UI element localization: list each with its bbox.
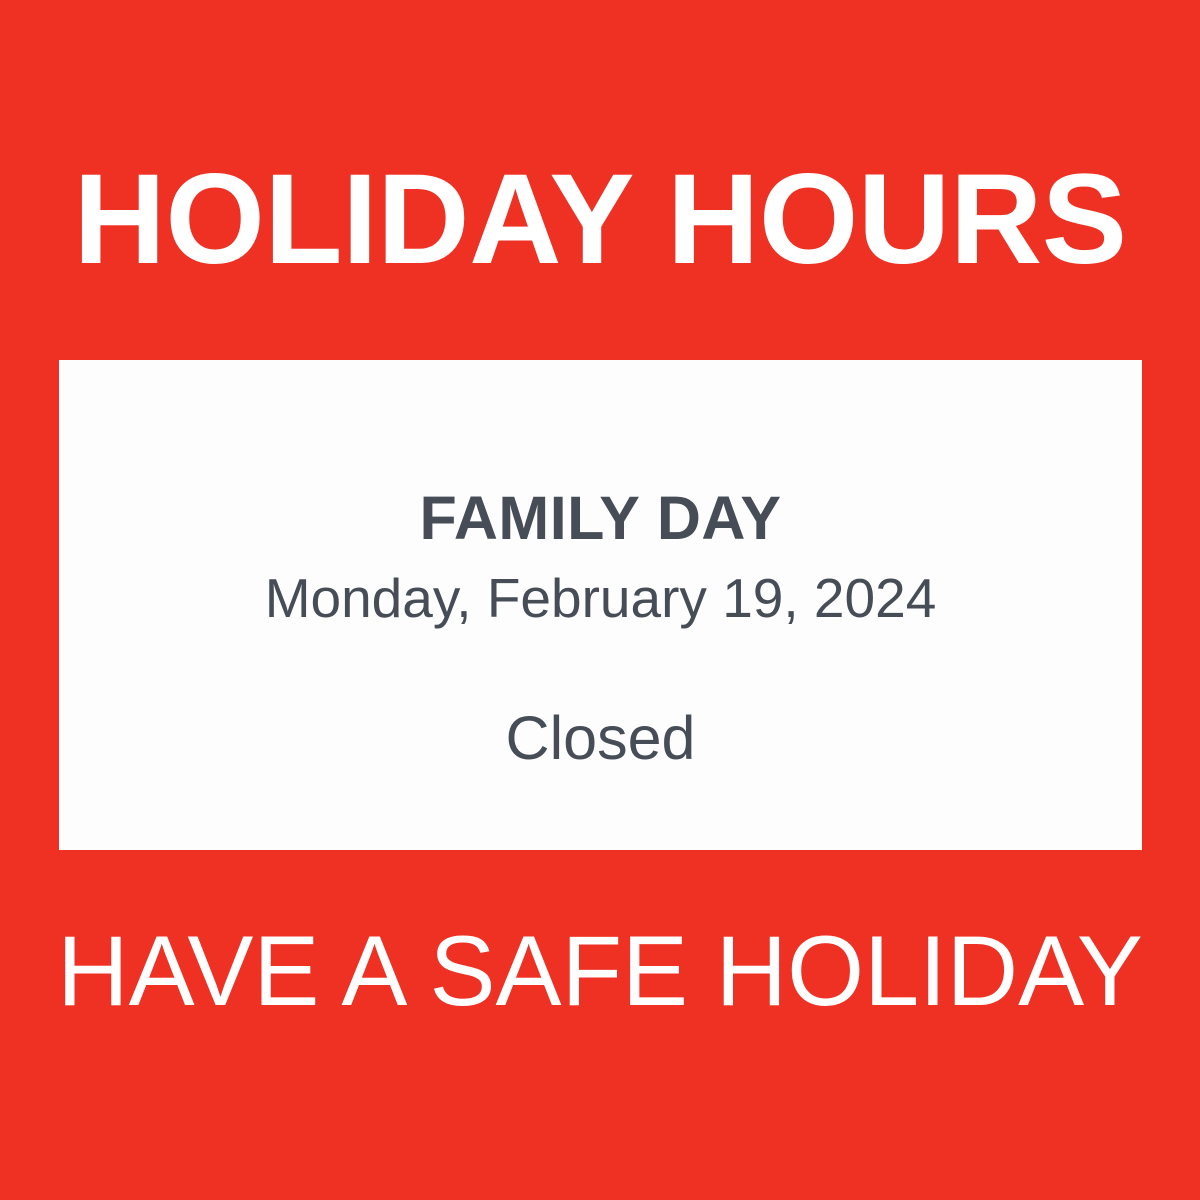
holiday-details-content: FAMILY DAY Monday, February 19, 2024 Clo… xyxy=(59,360,1142,769)
page-title: HOLIDAY HOURS xyxy=(73,156,1126,284)
status-badge: Closed xyxy=(59,626,1142,769)
holiday-details-card: FAMILY DAY Monday, February 19, 2024 Clo… xyxy=(59,360,1142,850)
holiday-date: Monday, February 19, 2024 xyxy=(59,549,1142,626)
footer-message: HAVE A SAFE HOLIDAY xyxy=(57,921,1143,1020)
headline-band: HOLIDAY HOURS xyxy=(0,150,1200,290)
footer-band: HAVE A SAFE HOLIDAY xyxy=(0,910,1200,1030)
holiday-name: FAMILY DAY xyxy=(59,488,1142,549)
holiday-hours-sign: HOLIDAY HOURS FAMILY DAY Monday, Februar… xyxy=(0,0,1200,1200)
